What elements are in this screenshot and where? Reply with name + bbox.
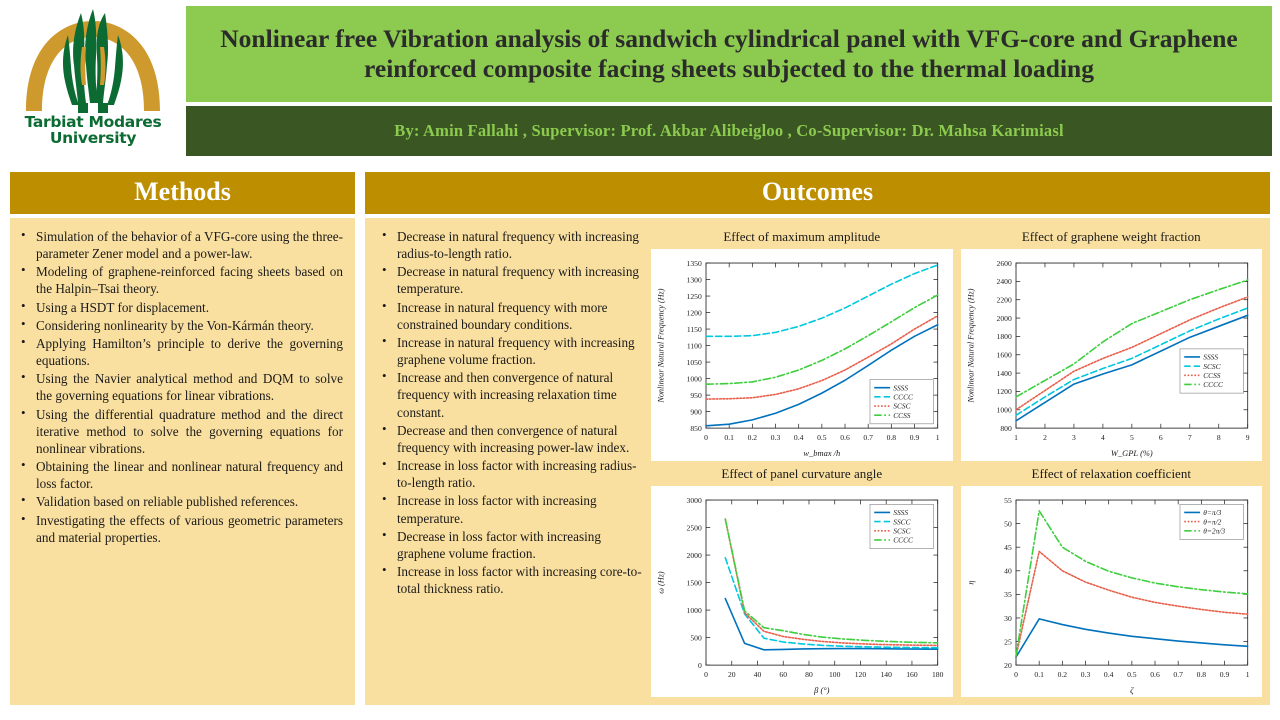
svg-text:1150: 1150: [687, 325, 702, 334]
svg-text:1800: 1800: [996, 332, 1011, 341]
svg-text:55: 55: [1004, 495, 1012, 504]
svg-text:20: 20: [1004, 660, 1012, 669]
svg-text:6: 6: [1158, 433, 1162, 442]
svg-text:SSSS: SSSS: [893, 508, 908, 517]
svg-text:0: 0: [1014, 669, 1018, 678]
svg-text:80: 80: [805, 669, 813, 678]
svg-text:θ=π/3: θ=π/3: [1203, 508, 1221, 517]
chart-caption-1: Effect of graphene weight fraction: [961, 226, 1263, 249]
author-line: By: Amin Fallahi , Supervisor: Prof. Akb…: [394, 121, 1063, 141]
svg-text:θ=2π/3: θ=2π/3: [1203, 526, 1225, 535]
svg-text:3000: 3000: [687, 495, 702, 504]
svg-text:1250: 1250: [687, 292, 702, 301]
chart-cell-2: Effect of panel curvature angle 02040608…: [651, 463, 953, 698]
svg-text:1000: 1000: [687, 374, 702, 383]
list-item: Validation based on reliable published r…: [16, 493, 343, 510]
list-item: Using a HSDT for displacement.: [16, 299, 343, 316]
svg-text:160: 160: [906, 669, 918, 678]
chart-caption-0: Effect of maximum amplitude: [651, 226, 953, 249]
svg-text:CCCC: CCCC: [893, 535, 914, 544]
list-item: Decrease in natural frequency with incre…: [377, 228, 645, 262]
outcomes-heading: Outcomes: [365, 172, 1270, 214]
logo-mark: [18, 7, 168, 115]
methods-heading: Methods: [10, 172, 355, 214]
svg-text:0.7: 0.7: [1173, 669, 1183, 678]
svg-text:35: 35: [1004, 590, 1012, 599]
svg-text:CCSS: CCSS: [1203, 371, 1221, 380]
svg-text:5: 5: [1129, 433, 1133, 442]
svg-text:0.1: 0.1: [1034, 669, 1044, 678]
svg-text:0.7: 0.7: [863, 433, 873, 442]
svg-text:140: 140: [880, 669, 892, 678]
svg-text:CCCC: CCCC: [893, 392, 914, 401]
svg-text:0.4: 0.4: [794, 433, 804, 442]
svg-text:SCSC: SCSC: [1203, 362, 1221, 371]
poster-body: Methods Simulation of the behavior of a …: [0, 162, 1280, 705]
outcomes-panel: Decrease in natural frequency with incre…: [365, 218, 1270, 705]
svg-text:0.1: 0.1: [724, 433, 734, 442]
logo-icon: [18, 7, 168, 115]
chart-relaxation-coefficient: 00.10.20.30.40.50.60.70.80.9120253035404…: [961, 486, 1263, 698]
svg-text:0: 0: [698, 660, 702, 669]
list-item: Simulation of the behavior of a VFG-core…: [16, 228, 343, 262]
chart-graphene-weight-fraction: 1234567898001000120014001600180020002200…: [961, 249, 1263, 461]
svg-text:0.6: 0.6: [1150, 669, 1160, 678]
university-logo-container: Tarbiat Modares University: [0, 0, 186, 162]
svg-text:SSCC: SSCC: [893, 517, 911, 526]
svg-text:9: 9: [1245, 433, 1249, 442]
svg-text:50: 50: [1004, 519, 1012, 528]
svg-text:800: 800: [1000, 424, 1012, 433]
svg-text:0.3: 0.3: [771, 433, 781, 442]
svg-text:900: 900: [690, 407, 702, 416]
svg-text:1: 1: [1245, 669, 1249, 678]
chart-max-amplitude: 00.10.20.30.40.50.60.70.80.9185090095010…: [651, 249, 953, 461]
chart-caption-3: Effect of relaxation coefficient: [961, 463, 1263, 486]
svg-text:180: 180: [932, 669, 944, 678]
chart-cell-3: Effect of relaxation coefficient 00.10.2…: [961, 463, 1263, 698]
svg-text:1200: 1200: [687, 308, 702, 317]
svg-text:Nonlinear Natural Frequency (H: Nonlinear Natural Frequency (Hz): [966, 288, 975, 403]
svg-text:40: 40: [754, 669, 762, 678]
svg-text:0.6: 0.6: [840, 433, 850, 442]
svg-text:1300: 1300: [687, 275, 702, 284]
svg-text:8: 8: [1216, 433, 1220, 442]
svg-text:1600: 1600: [996, 350, 1011, 359]
svg-text:0.5: 0.5: [817, 433, 827, 442]
author-bar: By: Amin Fallahi , Supervisor: Prof. Akb…: [186, 106, 1272, 156]
list-item: Decrease and then convergence of natural…: [377, 422, 645, 456]
svg-text:2400: 2400: [996, 277, 1011, 286]
chart-panel-curvature-angle: 0204060801001201401601800500100015002000…: [651, 486, 953, 698]
list-item: Considering nonlinearity by the Von-Kárm…: [16, 317, 343, 334]
svg-text:SSSS: SSSS: [1203, 353, 1218, 362]
svg-text:0.9: 0.9: [910, 433, 920, 442]
poster-root: Tarbiat Modares University Nonlinear fre…: [0, 0, 1280, 720]
svg-text:4: 4: [1100, 433, 1104, 442]
svg-text:100: 100: [829, 669, 841, 678]
svg-text:w_bmax /h: w_bmax /h: [803, 448, 840, 458]
svg-text:0.5: 0.5: [1127, 669, 1137, 678]
list-item: Using the Navier analytical method and D…: [16, 370, 343, 404]
list-item: Increase in natural frequency with incre…: [377, 334, 645, 368]
svg-text:β (°): β (°): [813, 685, 829, 695]
svg-text:0: 0: [704, 669, 708, 678]
svg-text:7: 7: [1187, 433, 1191, 442]
svg-text:2500: 2500: [687, 523, 702, 532]
svg-text:ζ: ζ: [1130, 685, 1134, 695]
svg-text:2: 2: [1043, 433, 1047, 442]
svg-text:0.8: 0.8: [887, 433, 897, 442]
svg-text:1: 1: [1014, 433, 1018, 442]
charts-area: Effect of maximum amplitude 00.10.20.30.…: [651, 226, 1262, 697]
outcomes-text-block: Decrease in natural frequency with incre…: [373, 226, 645, 697]
list-item: Increase in loss factor with increasing …: [377, 563, 645, 597]
methods-bullet-list: Simulation of the behavior of a VFG-core…: [16, 228, 343, 546]
svg-text:1000: 1000: [687, 605, 702, 614]
svg-text:850: 850: [690, 424, 702, 433]
svg-text:120: 120: [855, 669, 867, 678]
logo-line-2: University: [18, 131, 168, 147]
svg-text:60: 60: [779, 669, 787, 678]
svg-text:2600: 2600: [996, 259, 1011, 268]
title-bar: Nonlinear free Vibration analysis of san…: [186, 6, 1272, 102]
svg-text:0: 0: [704, 433, 708, 442]
svg-text:1500: 1500: [687, 578, 702, 587]
list-item: Increase and then convergence of natural…: [377, 369, 645, 420]
svg-text:1350: 1350: [687, 259, 702, 268]
svg-text:1200: 1200: [996, 387, 1011, 396]
svg-text:2000: 2000: [687, 550, 702, 559]
list-item: Applying Hamilton’s principle to derive …: [16, 335, 343, 369]
svg-text:1000: 1000: [996, 406, 1011, 415]
outcomes-bullet-list: Decrease in natural frequency with incre…: [377, 228, 645, 597]
svg-text:0.9: 0.9: [1219, 669, 1229, 678]
svg-text:0.3: 0.3: [1080, 669, 1090, 678]
list-item: Using the differential quadrature method…: [16, 406, 343, 457]
svg-text:950: 950: [690, 391, 702, 400]
list-item: Obtaining the linear and nonlinear natur…: [16, 458, 343, 492]
svg-text:CCCC: CCCC: [1203, 380, 1224, 389]
svg-text:1400: 1400: [996, 369, 1011, 378]
svg-text:SCSC: SCSC: [893, 402, 911, 411]
chart-caption-2: Effect of panel curvature angle: [651, 463, 953, 486]
svg-text:W_GPL (%): W_GPL (%): [1110, 448, 1152, 458]
outcomes-column: Outcomes Decrease in natural frequency w…: [365, 172, 1270, 705]
svg-text:1050: 1050: [687, 358, 702, 367]
svg-text:20: 20: [728, 669, 736, 678]
svg-text:1100: 1100: [687, 341, 702, 350]
tarbiat-modares-logo: Tarbiat Modares University: [18, 7, 168, 155]
svg-text:0.2: 0.2: [748, 433, 758, 442]
svg-text:0.2: 0.2: [1057, 669, 1067, 678]
chart-row-bottom: Effect of panel curvature angle 02040608…: [651, 463, 1262, 698]
svg-text:45: 45: [1004, 542, 1012, 551]
svg-text:500: 500: [690, 633, 702, 642]
svg-text:0.4: 0.4: [1103, 669, 1113, 678]
svg-text:0.8: 0.8: [1196, 669, 1206, 678]
logo-wordmark: Tarbiat Modares University: [18, 115, 168, 147]
methods-panel: Simulation of the behavior of a VFG-core…: [10, 218, 355, 705]
svg-text:2000: 2000: [996, 314, 1011, 323]
svg-text:θ=π/2: θ=π/2: [1203, 517, 1221, 526]
list-item: Decrease in natural frequency with incre…: [377, 263, 645, 297]
list-item: Increase in loss factor with increasing …: [377, 457, 645, 491]
list-item: Modeling of graphene-reinforced facing s…: [16, 263, 343, 297]
list-item: Investigating the effects of various geo…: [16, 512, 343, 546]
svg-text:1: 1: [936, 433, 940, 442]
svg-text:25: 25: [1004, 637, 1012, 646]
svg-text:2200: 2200: [996, 295, 1011, 304]
svg-text:3: 3: [1072, 433, 1076, 442]
chart-cell-1: Effect of graphene weight fraction 12345…: [961, 226, 1263, 461]
poster-header: Tarbiat Modares University Nonlinear fre…: [0, 0, 1280, 162]
svg-text:30: 30: [1004, 613, 1012, 622]
header-text-block: Nonlinear free Vibration analysis of san…: [186, 0, 1280, 162]
svg-text:CCSS: CCSS: [893, 411, 911, 420]
list-item: Increase in loss factor with increasing …: [377, 492, 645, 526]
svg-text:ω (Hz): ω (Hz): [657, 571, 666, 594]
svg-text:SCSC: SCSC: [893, 526, 911, 535]
methods-column: Methods Simulation of the behavior of a …: [10, 172, 355, 705]
svg-text:η: η: [966, 580, 975, 584]
list-item: Decrease in loss factor with increasing …: [377, 528, 645, 562]
svg-text:Nonlinear Natural Frequency (H: Nonlinear Natural Frequency (Hz): [657, 288, 666, 403]
svg-text:40: 40: [1004, 566, 1012, 575]
svg-text:SSSS: SSSS: [893, 383, 908, 392]
chart-cell-0: Effect of maximum amplitude 00.10.20.30.…: [651, 226, 953, 461]
page-title: Nonlinear free Vibration analysis of san…: [198, 24, 1260, 84]
list-item: Increase in natural frequency with more …: [377, 299, 645, 333]
chart-row-top: Effect of maximum amplitude 00.10.20.30.…: [651, 226, 1262, 461]
